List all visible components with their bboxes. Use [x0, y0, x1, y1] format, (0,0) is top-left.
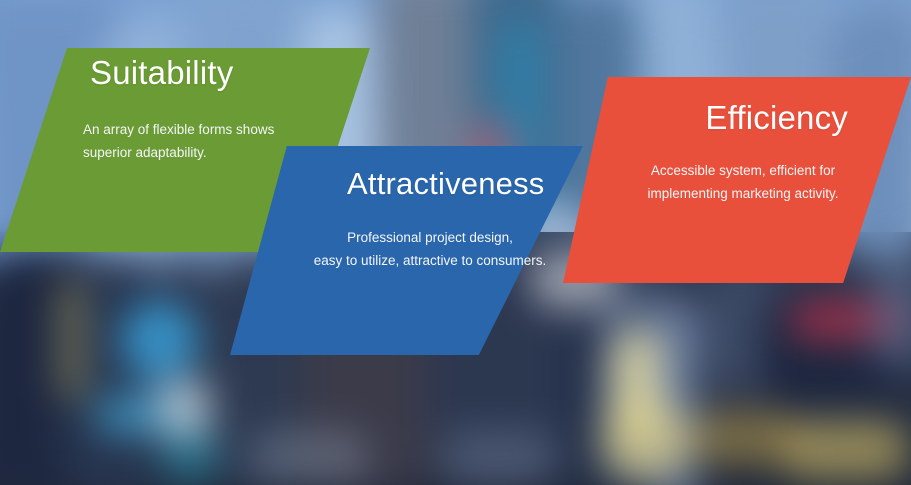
- panel-efficiency-body-line-2: implementing marketing activity.: [583, 182, 903, 205]
- panel-attractiveness-heading: Attractiveness: [347, 166, 545, 202]
- panel-attractiveness-body-line-1: Professional project design,: [270, 226, 590, 249]
- panel-efficiency-heading: Efficiency: [705, 99, 848, 137]
- panel-attractiveness-content: Attractiveness Professional project desi…: [230, 146, 583, 355]
- slide-canvas: Suitability An array of flexible forms s…: [0, 0, 911, 485]
- panel-efficiency-body: Accessible system, efficient for impleme…: [583, 159, 903, 205]
- panel-efficiency[interactable]: Efficiency Accessible system, efficient …: [563, 77, 911, 283]
- panel-efficiency-body-line-1: Accessible system, efficient for: [583, 159, 903, 182]
- panel-attractiveness-body-line-2: easy to utilize, attractive to consumers…: [270, 249, 590, 272]
- panel-efficiency-content: Efficiency Accessible system, efficient …: [563, 77, 911, 283]
- panel-suitability-heading: Suitability: [90, 54, 233, 92]
- panel-suitability-body-line-1: An array of flexible forms shows: [83, 118, 343, 141]
- panel-attractiveness[interactable]: Attractiveness Professional project desi…: [230, 146, 583, 355]
- panel-attractiveness-body: Professional project design, easy to uti…: [270, 226, 590, 272]
